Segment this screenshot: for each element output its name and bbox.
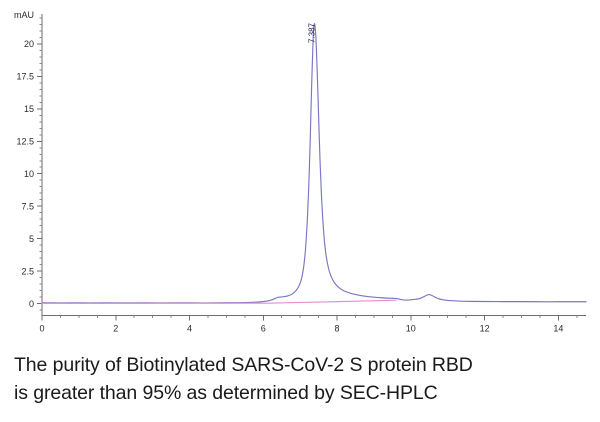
y-tick-label: 15 [24,104,34,114]
caption-line-2: is greater than 95% as determined by SEC… [14,380,586,408]
x-tick-label: 14 [553,324,563,334]
peak-annotations: 7.387 [307,22,316,43]
x-tick-label: 10 [406,324,416,334]
y-tick-label: 7.5 [21,201,34,211]
x-tick-label: 8 [335,324,340,334]
trace-absorbance [42,24,586,303]
y-tick-label: 0 [29,299,34,309]
chromatogram-svg: 02.557.51012.51517.520 02468101214 mAU 7… [0,0,600,348]
data-series [42,24,586,304]
x-tick-label: 2 [113,324,118,334]
y-axis-unit-label: mAU [14,10,34,20]
chromatogram-chart: 02.557.51012.51517.520 02468101214 mAU 7… [0,0,600,348]
y-tick-label: 2.5 [21,266,34,276]
y-tick-label: 17.5 [16,71,34,81]
axes [42,14,586,316]
y-tick-label: 10 [24,169,34,179]
sec-hplc-figure: 02.557.51012.51517.520 02468101214 mAU 7… [0,0,600,422]
x-tick-label: 6 [261,324,266,334]
figure-caption: The purity of Biotinylated SARS-CoV-2 S … [0,352,600,407]
y-axis-tick-labels: 02.557.51012.51517.520 [16,39,34,309]
y-tick-label: 20 [24,39,34,49]
main-peak-retention-time: 7.387 [307,22,316,43]
y-tick-label: 5 [29,234,34,244]
x-tick-label: 4 [187,324,192,334]
y-tick-label: 12.5 [16,136,34,146]
caption-line-1: The purity of Biotinylated SARS-CoV-2 S … [14,352,586,380]
trace-baseline [42,300,396,303]
x-axis-tick-labels: 02468101214 [39,324,563,334]
x-tick-label: 0 [39,324,44,334]
x-tick-label: 12 [480,324,490,334]
